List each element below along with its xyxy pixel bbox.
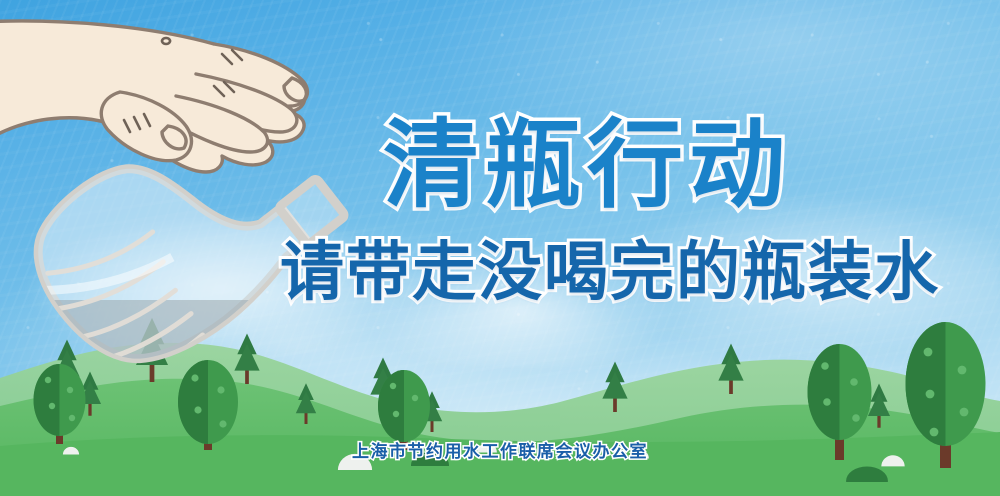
water-conservation-poster: 清瓶行动 请带走没喝完的瓶装水 上海市节约用水工作联席会议办公室 (0, 0, 1000, 496)
footer-organization: 上海市节约用水工作联席会议办公室 (0, 437, 1000, 462)
hand-reaching (0, 21, 307, 172)
page-subtitle: 请带走没喝完的瓶装水 (280, 240, 940, 304)
page-title: 清瓶行动 (383, 118, 791, 214)
